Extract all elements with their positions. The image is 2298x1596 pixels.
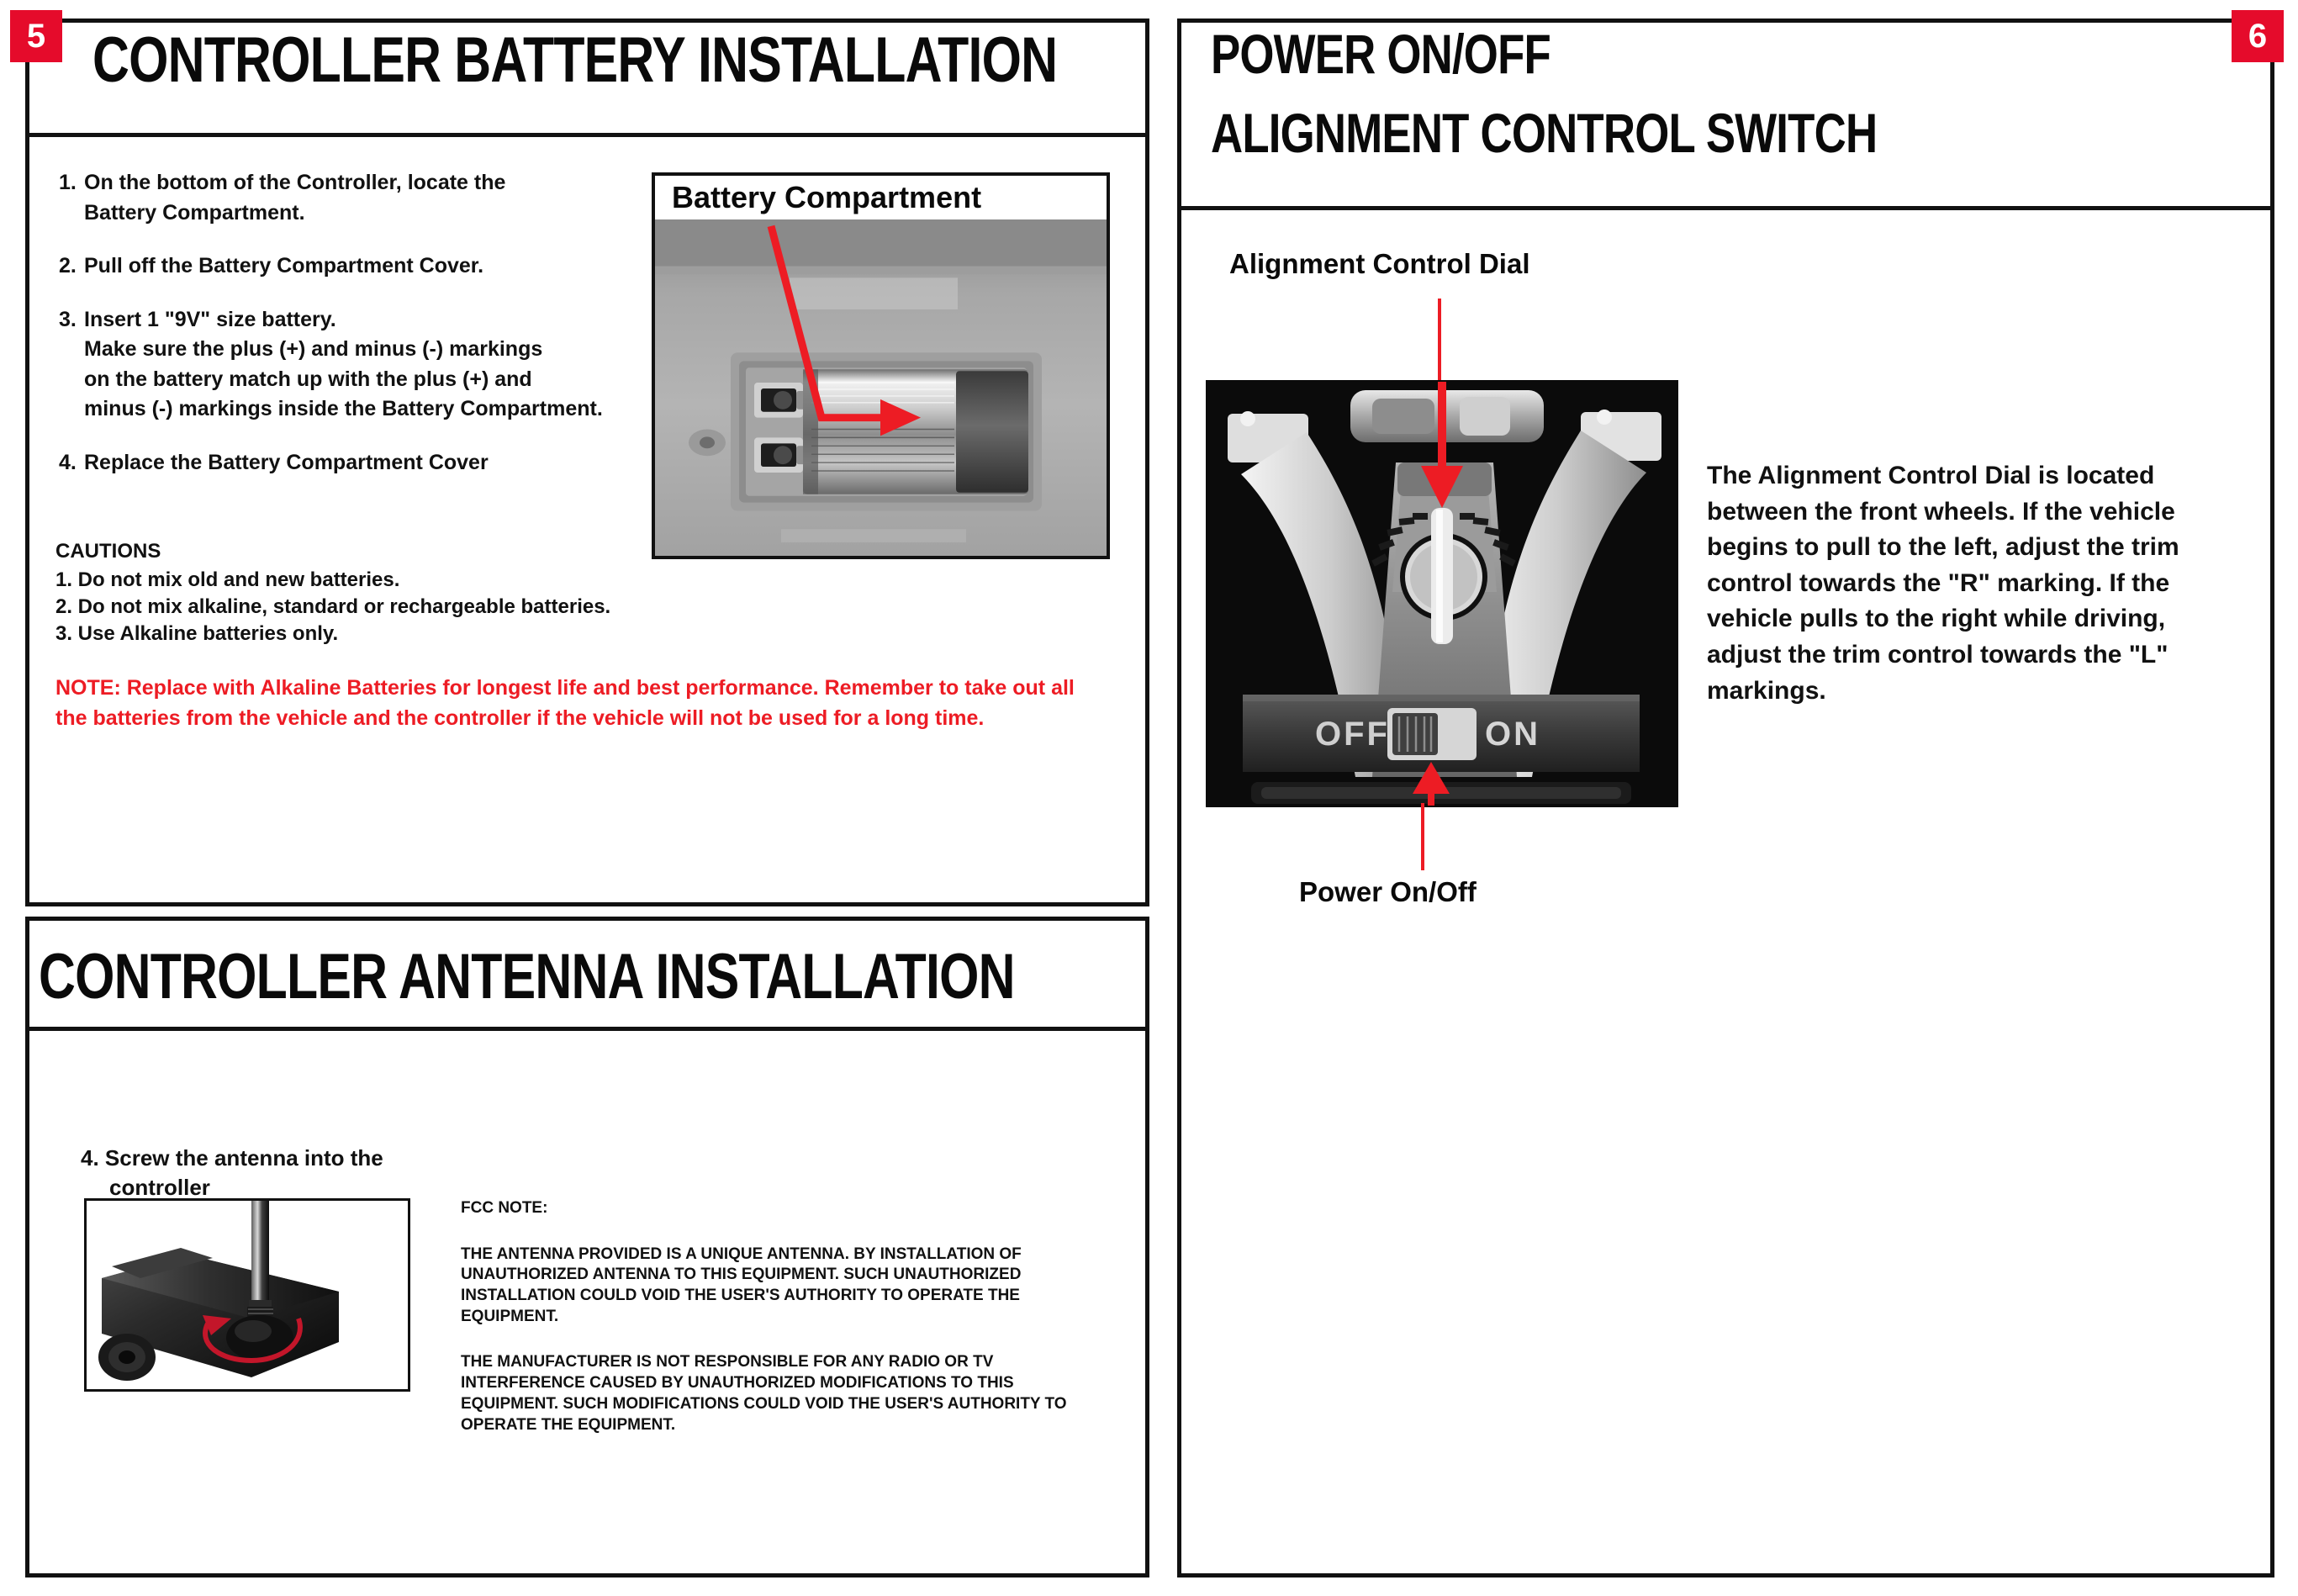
- manual-page: CONTROLLER BATTERY INSTALLATION 1. On th…: [0, 0, 2298, 1596]
- vehicle-front-photo: OFF ON: [1206, 380, 1678, 807]
- step-text: Replace the Battery Compartment Cover: [84, 448, 647, 478]
- caution-item: 3. Use Alkaline batteries only.: [55, 621, 695, 647]
- step-text: Insert 1 "9V" size battery. Make sure th…: [84, 305, 647, 425]
- step-number: 4.: [81, 1145, 99, 1171]
- step-item: 1. On the bottom of the Controller, loca…: [59, 168, 647, 228]
- step-number: 3.: [59, 305, 84, 425]
- panel-divider: [29, 133, 1145, 137]
- battery-note: NOTE: Replace with Alkaline Batteries fo…: [55, 673, 1077, 734]
- power-onoff-callout: Power On/Off: [1299, 876, 1477, 908]
- panel-divider: [29, 1027, 1145, 1031]
- battery-compartment-caption: Battery Compartment: [655, 176, 1107, 219]
- page-number-badge-right: 6: [2232, 10, 2284, 62]
- step-item: 4. Replace the Battery Compartment Cover: [59, 448, 647, 478]
- step-item: 2. Pull off the Battery Compartment Cove…: [59, 251, 647, 282]
- dial-leader-line: [1438, 299, 1441, 387]
- step-text: Screw the antenna into the: [105, 1145, 383, 1171]
- caution-item: 2. Do not mix alkaline, standard or rech…: [55, 594, 695, 621]
- alignment-description: The Alignment Control Dial is located be…: [1707, 458, 2220, 709]
- battery-steps-list: 1. On the bottom of the Controller, loca…: [59, 168, 647, 501]
- switch-on-label: ON: [1485, 716, 1540, 753]
- fcc-heading: FCC NOTE:: [461, 1198, 1100, 1219]
- page-number-badge-left: 5: [10, 10, 62, 62]
- alignment-dial-callout: Alignment Control Dial: [1229, 248, 1530, 280]
- battery-compartment-figure: Battery Compartment: [652, 172, 1110, 559]
- power-section-title: POWER ON/OFF: [1211, 22, 1550, 86]
- cautions-block: CAUTIONS 1. Do not mix old and new batte…: [55, 538, 695, 647]
- switch-off-label: OFF: [1315, 716, 1390, 753]
- caution-item: 1. Do not mix old and new batteries.: [55, 567, 695, 594]
- step-number: 2.: [59, 251, 84, 282]
- step-text: Pull off the Battery Compartment Cover.: [84, 251, 647, 282]
- antenna-section-title: CONTROLLER ANTENNA INSTALLATION: [39, 940, 1015, 1013]
- fcc-paragraph: THE MANUFACTURER IS NOT RESPONSIBLE FOR …: [461, 1352, 1100, 1435]
- fcc-note-block: FCC NOTE: THE ANTENNA PROVIDED IS A UNIQ…: [461, 1198, 1100, 1461]
- power-leader-line: [1421, 803, 1424, 870]
- alignment-section-title: ALIGNMENT CONTROL SWITCH: [1211, 101, 1877, 165]
- fcc-paragraph: THE ANTENNA PROVIDED IS A UNIQUE ANTENNA…: [461, 1245, 1100, 1328]
- battery-compartment-photo: [655, 219, 1107, 556]
- cautions-heading: CAUTIONS: [55, 538, 695, 565]
- panel-divider: [1181, 206, 2270, 210]
- battery-section-title: CONTROLLER BATTERY INSTALLATION: [92, 24, 1057, 97]
- step-number: 1.: [59, 168, 84, 228]
- antenna-step: 4. Screw the antenna into the controller: [81, 1144, 442, 1202]
- step-item: 3. Insert 1 "9V" size battery. Make sure…: [59, 305, 647, 425]
- antenna-photo: [84, 1198, 410, 1392]
- step-number: 4.: [59, 448, 84, 478]
- step-text: On the bottom of the Controller, locate …: [84, 168, 647, 228]
